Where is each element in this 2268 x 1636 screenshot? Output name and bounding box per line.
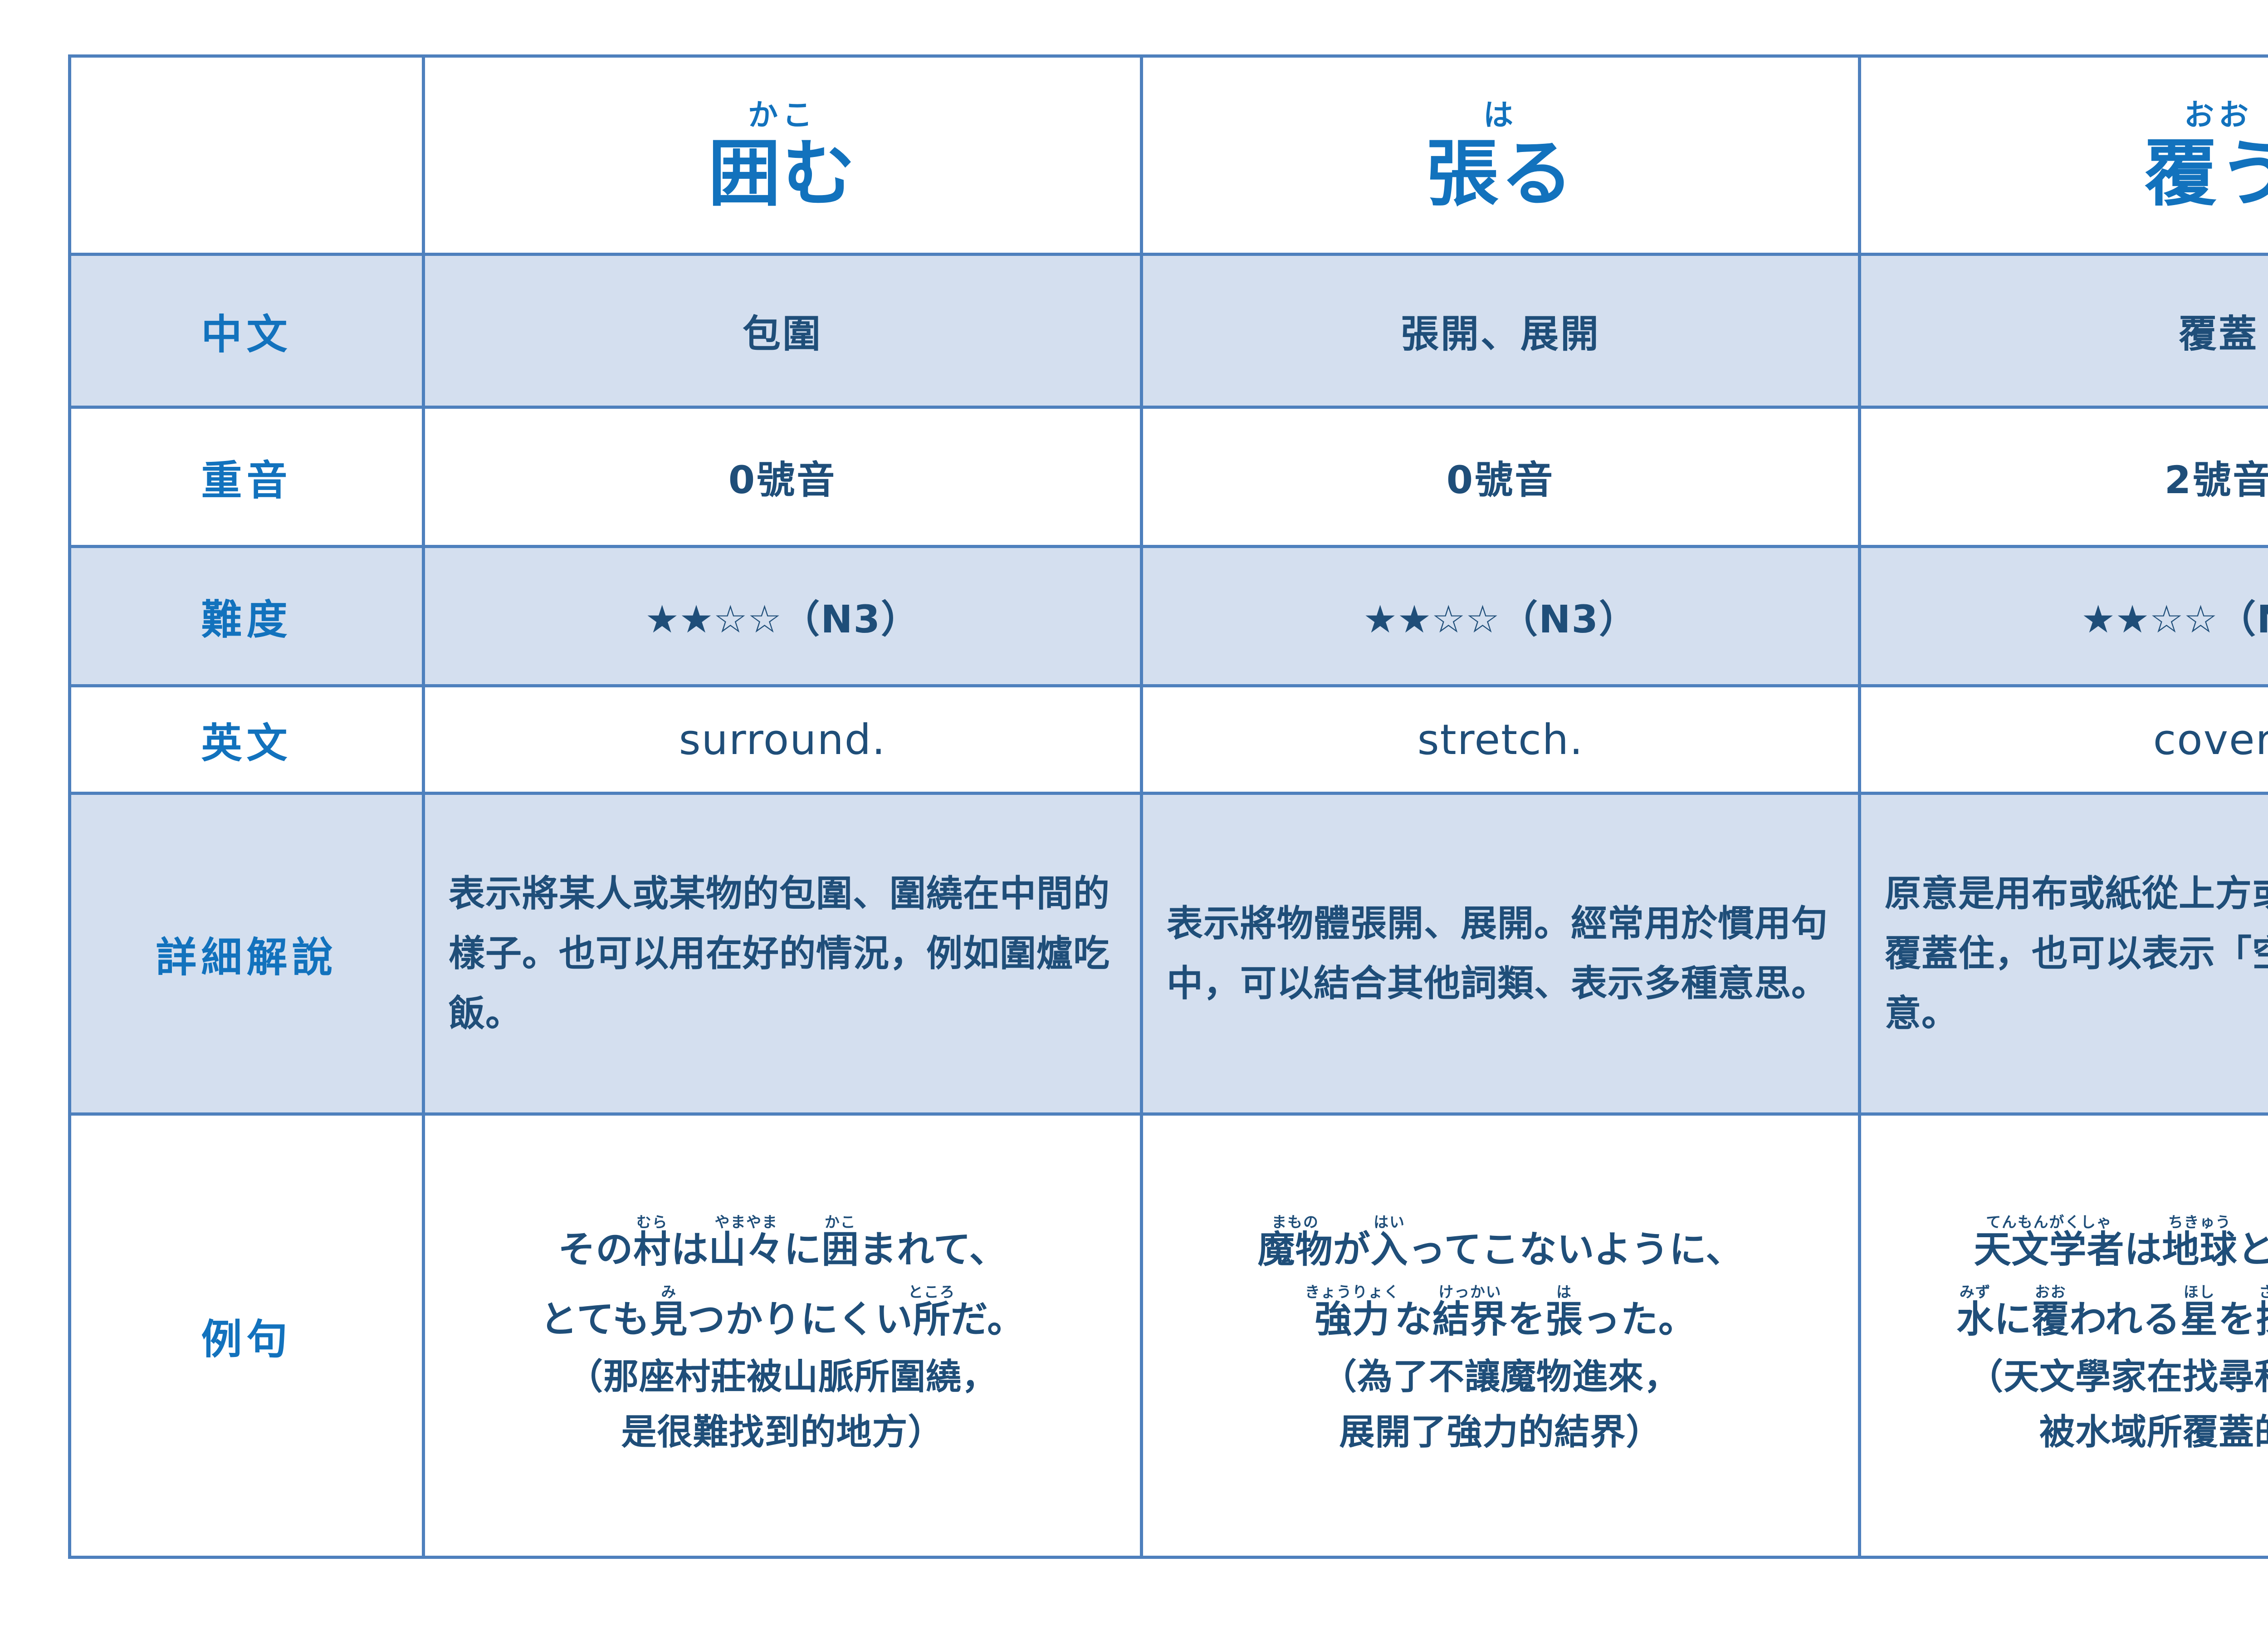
row-label-difficulty-text: 難度 [201,596,292,644]
plain-run: だ。 [951,1298,1025,1341]
plain-run: われる [2069,1298,2180,1341]
example-sentence-line1-2: 魔物まものが入はいってこないように、 [1157,1214,1844,1272]
ruby-reading: ほし [2180,1283,2218,1301]
table-row-english: 英文 surround. stretch. cover. [70,686,2268,794]
jlpt-level-3: （N3） [2218,597,2268,642]
ruby-reading: けっかい [1432,1283,1508,1301]
example-block-2: 魔物まものが入はいってこないように、 強力きょうりょくな結界けっかいを張はった。… [1143,1200,1858,1471]
plain-run: まれて、 [859,1228,1007,1271]
ruby-reading: むら [633,1214,671,1231]
ruby-reading: まもの [1258,1214,1333,1231]
ruby-run: 魔物まもの [1258,1228,1333,1271]
cell-english-2-text: stretch. [1417,715,1584,764]
example-sentence-line1-3: 天文学者てんもんがくしゃは地球ちきゅうと同おなじような [1875,1214,2268,1272]
vocabulary-comparison-table: かこ 囲む は 張る おお 覆う [68,54,2268,1559]
plain-run: は [2124,1228,2162,1271]
ruby-reading: み [650,1283,688,1301]
row-label-accent: 重音 [70,407,424,547]
cell-difficulty-3: ★★☆☆（N3） [1860,547,2268,686]
ruby-run: 山々やまやま [709,1228,784,1271]
row-label-example: 例句 [70,1114,424,1558]
example-sentence-line2-1: とても見みつかりにくい所ところだ。 [439,1284,1126,1342]
plain-run: と [2238,1228,2268,1271]
table-row-example: 例句 その村むらは山々やまやまに囲かこまれて、 とても見みつかりにくい所ところだ… [70,1114,2268,1558]
cell-example-3: 天文学者てんもんがくしゃは地球ちきゅうと同おなじような 水みずに覆おおわれる星ほ… [1860,1114,2268,1558]
example-translation-1-line1: （那座村莊被山脈所圍繞， [567,1357,997,1397]
plain-run: が [1333,1228,1371,1271]
table-row-explanation: 詳細解說 表示將某人或某物的包圍、圍繞在中間的樣子。也可以用在好的情況，例如圍爐… [70,794,2268,1114]
word-title-2: 張る [1426,137,1575,210]
cell-chinese-2-text: 張開、展開 [1401,312,1600,356]
cell-chinese-1-text: 包圍 [743,312,822,356]
table-row-difficulty: 難度 ★★☆☆（N3） ★★☆☆（N3） ★★☆☆（N3） [70,547,2268,686]
ruby-run: 覆おお [2032,1298,2069,1341]
row-label-chinese-text: 中文 [201,311,292,358]
row-label-english-text: 英文 [201,720,292,767]
difficulty-rating-2: ★★☆☆（N3） [1363,597,1638,642]
ruby-run: 村むら [633,1228,671,1271]
row-label-chinese: 中文 [70,255,424,407]
plain-run: ってこないように、 [1408,1228,1744,1271]
cell-english-2: stretch. [1142,686,1860,794]
table-header-row: かこ 囲む は 張る おお 覆う [70,56,2268,255]
plain-run: に [784,1228,821,1271]
cell-accent-3-text: 2號音 [2165,458,2268,502]
cell-accent-1: 0號音 [424,407,1142,547]
example-translation-1-line2: 是很難找到的地方） [439,1411,1126,1455]
star-rating-icon-1: ★★☆☆ [645,597,782,642]
ruby-run: 所ところ [913,1298,951,1341]
plain-run: その [558,1228,633,1271]
cell-chinese-2: 張開、展開 [1142,255,1860,407]
word-block-3: おお 覆う [2144,100,2268,210]
ruby-reading: は [1545,1283,1583,1301]
row-label-accent-text: 重音 [201,457,292,505]
ruby-reading: やまやま [709,1214,784,1231]
ruby-run: 水みず [1956,1298,1994,1341]
star-rating-icon-2: ★★☆☆ [1363,597,1500,642]
example-sentence-line1-1: その村むらは山々やまやまに囲かこまれて、 [439,1214,1126,1272]
vocabulary-comparison-page: かこ 囲む は 張る おお 覆う [0,0,2268,1636]
cell-english-1: surround. [424,686,1142,794]
example-translation-2-line1: （為了不讓魔物進來， [1321,1357,1680,1397]
cell-explanation-3-text: 原意是用布或紙從上方或外側將某項物品覆蓋住，也可以表示「空間內的氣氛」之意。 [1861,864,2268,1043]
cell-accent-3: 2號音 [1860,407,2268,547]
word-title-1: 囲む [708,137,857,210]
row-label-explanation: 詳細解說 [70,794,424,1114]
ruby-run: 囲かこ [821,1228,859,1271]
ruby-run: 見み [650,1298,688,1341]
cell-explanation-1-text: 表示將某人或某物的包圍、圍繞在中間的樣子。也可以用在好的情況，例如圍爐吃飯。 [425,864,1140,1043]
ruby-reading: さが [2256,1283,2268,1301]
word-title-3: 覆う [2144,137,2268,210]
table-row-chinese: 中文 包圍 張開、展開 覆蓋 [70,255,2268,407]
word-block-2: は 張る [1426,100,1575,210]
furigana-1: かこ [708,100,857,130]
row-label-english: 英文 [70,686,424,794]
jlpt-level-2: （N3） [1500,597,1638,642]
difficulty-rating-3: ★★☆☆（N3） [2081,597,2268,642]
ruby-reading: ところ [908,1283,955,1301]
plain-run: った。 [1583,1298,1696,1341]
plain-run: を [1508,1298,1545,1341]
example-sentence-line2-3: 水みずに覆おおわれる星ほしを探さがしている。 [1875,1284,2268,1342]
plain-run: な [1395,1298,1432,1341]
header-word-cell-2: は 張る [1142,56,1860,255]
ruby-run: 探さが [2256,1298,2268,1341]
cell-accent-2-text: 0號音 [1447,458,1554,502]
ruby-reading: ちきゅう [2162,1214,2237,1231]
ruby-run: 天文学者てんもんがくしゃ [1974,1228,2124,1271]
ruby-reading: みず [1956,1283,1994,1301]
example-block-3: 天文学者てんもんがくしゃは地球ちきゅうと同おなじような 水みずに覆おおわれる星ほ… [1861,1200,2268,1471]
cell-english-1-text: surround. [679,715,886,764]
ruby-run: 地球ちきゅう [2162,1228,2237,1271]
example-translation-2-line2: 展開了強力的結界） [1157,1411,1844,1455]
table-row-accent: 重音 0號音 0號音 2號音 [70,407,2268,547]
row-label-explanation-text: 詳細解說 [156,934,337,981]
jlpt-level-1: （N3） [782,597,920,642]
ruby-run: 強力きょうりょく [1305,1298,1395,1341]
cell-accent-1-text: 0號音 [728,458,836,502]
cell-example-1: その村むらは山々やまやまに囲かこまれて、 とても見みつかりにくい所ところだ。 （… [424,1114,1142,1558]
row-label-difficulty: 難度 [70,547,424,686]
cell-english-3: cover. [1860,686,2268,794]
star-rating-icon-3: ★★☆☆ [2081,597,2218,642]
furigana-3: おお [2144,100,2268,130]
ruby-reading: おお [2032,1283,2069,1301]
word-block-1: かこ 囲む [708,100,857,210]
example-block-1: その村むらは山々やまやまに囲かこまれて、 とても見みつかりにくい所ところだ。 （… [425,1200,1140,1471]
header-word-cell-3: おお 覆う [1860,56,2268,255]
example-translation-3-line2: 被水域所覆蓋的行星） [1875,1411,2268,1455]
ruby-reading: かこ [821,1214,859,1231]
example-translation-1: （那座村莊被山脈所圍繞， 是很難找到的地方） [439,1355,1126,1455]
cell-example-2: 魔物まものが入はいってこないように、 強力きょうりょくな結界けっかいを張はった。… [1142,1114,1860,1558]
ruby-run: 入はい [1371,1228,1408,1271]
example-translation-2: （為了不讓魔物進來， 展開了強力的結界） [1157,1355,1844,1455]
cell-explanation-2: 表示將物體張開、展開。經常用於慣用句中，可以結合其他詞類、表示多種意思。 [1142,794,1860,1114]
cell-explanation-2-text: 表示將物體張開、展開。經常用於慣用句中，可以結合其他詞類、表示多種意思。 [1143,894,1858,1014]
header-word-cell-1: かこ 囲む [424,56,1142,255]
example-translation-3-line1: （天文學家在找尋和地球相同、 [1968,1357,2268,1397]
example-sentence-line2-2: 強力きょうりょくな結界けっかいを張はった。 [1157,1284,1844,1342]
cell-difficulty-2: ★★☆☆（N3） [1142,547,1860,686]
plain-run: は [671,1228,709,1271]
ruby-reading: てんもんがくしゃ [1974,1214,2124,1231]
cell-chinese-3: 覆蓋 [1860,255,2268,407]
plain-run: を [2218,1298,2256,1341]
ruby-reading: はい [1371,1214,1408,1231]
ruby-run: 星ほし [2180,1298,2218,1341]
row-label-example-text: 例句 [201,1316,292,1363]
furigana-2: は [1426,100,1575,130]
cell-chinese-1: 包圍 [424,255,1142,407]
header-corner-cell [70,56,424,255]
cell-explanation-1: 表示將某人或某物的包圍、圍繞在中間的樣子。也可以用在好的情況，例如圍爐吃飯。 [424,794,1142,1114]
cell-chinese-3-text: 覆蓋 [2179,312,2258,356]
ruby-run: 結界けっかい [1432,1298,1508,1341]
cell-difficulty-1: ★★☆☆（N3） [424,547,1142,686]
plain-run: に [1994,1298,2032,1341]
plain-run: つかりにくい [688,1298,913,1341]
cell-accent-2: 0號音 [1142,407,1860,547]
cell-english-3-text: cover. [2153,715,2268,764]
plain-run: とても [540,1298,650,1341]
ruby-reading: きょうりょく [1305,1283,1400,1301]
example-translation-3: （天文學家在找尋和地球相同、 被水域所覆蓋的行星） [1875,1355,2268,1455]
cell-explanation-3: 原意是用布或紙從上方或外側將某項物品覆蓋住，也可以表示「空間內的氣氛」之意。 [1860,794,2268,1114]
difficulty-rating-1: ★★☆☆（N3） [645,597,920,642]
ruby-run: 張は [1545,1298,1583,1341]
